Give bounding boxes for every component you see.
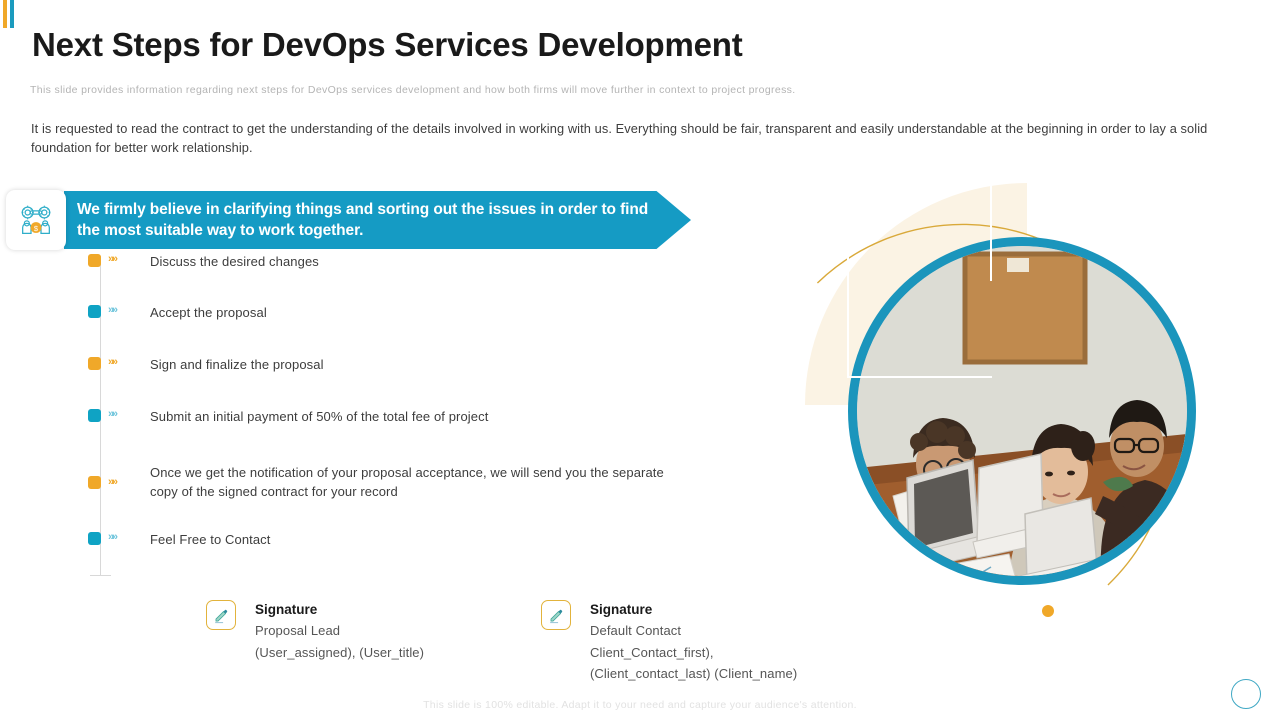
chevron-icon: »» [108, 530, 134, 544]
accent-bars [3, 0, 14, 28]
signature-block-proposal-lead: Signature Proposal Lead (User_assigned),… [206, 600, 424, 663]
page-title: Next Steps for DevOps Services Developme… [32, 26, 743, 64]
list-item[interactable]: »» Accept the proposal [88, 303, 728, 322]
signature-line: Proposal Lead [255, 620, 424, 642]
signature-line: (Client_contact_last) (Client_name) [590, 663, 797, 685]
signature-text: Signature Default Contact Client_Contact… [590, 600, 797, 685]
white-corner-line-upper [945, 181, 992, 281]
list-item-label: Accept the proposal [150, 303, 267, 322]
pen-glyph [212, 606, 231, 625]
gold-dot [1042, 605, 1054, 617]
signature-block-default-contact: Signature Default Contact Client_Contact… [541, 600, 797, 685]
steps-rail-foot [90, 575, 111, 576]
signature-line: Default Contact [590, 620, 797, 642]
chevron-icon: »» [108, 252, 134, 266]
signature-title: Signature [255, 600, 424, 620]
chevron-icon: »» [108, 407, 134, 421]
list-item-label: Feel Free to Contact [150, 530, 271, 549]
banner-text: We firmly believe in clarifying things a… [64, 199, 664, 241]
list-item-label: Sign and finalize the proposal [150, 355, 324, 374]
list-item-label: Submit an initial payment of 50% of the … [150, 407, 488, 426]
step-chip [88, 532, 101, 545]
list-item[interactable]: »» Sign and finalize the proposal [88, 355, 728, 374]
team-photo [857, 246, 1187, 576]
team-photo-graphic [805, 183, 1225, 633]
accent-bar-teal [10, 0, 14, 28]
chevron-icon: »» [108, 475, 134, 489]
step-chip [88, 357, 101, 370]
chevron-icon: »» [108, 355, 134, 369]
footer-note: This slide is 100% editable. Adapt it to… [0, 699, 1280, 711]
pen-glyph [547, 606, 566, 625]
step-chip [88, 305, 101, 318]
signature-title: Signature [590, 600, 797, 620]
signature-line: Client_Contact_first), [590, 642, 797, 664]
page-subtitle: This slide provides information regardin… [30, 84, 1250, 96]
list-item[interactable]: »» Discuss the desired changes [88, 252, 728, 271]
accent-bar-orange [3, 0, 7, 28]
step-chip [88, 409, 101, 422]
signature-line: (User_assigned), (User_title) [255, 642, 424, 664]
gears-and-people-icon: $ [16, 200, 56, 240]
banner-icon-container: $ [6, 190, 66, 250]
step-chip [88, 254, 101, 267]
step-chip [88, 476, 101, 489]
signature-pen-icon [541, 600, 571, 630]
key-message-banner: We firmly believe in clarifying things a… [64, 191, 691, 249]
list-item[interactable]: »» Feel Free to Contact [88, 530, 728, 549]
chevron-icon: »» [108, 303, 134, 317]
list-item[interactable]: »» Once we get the notification of your … [88, 463, 688, 501]
photo-ring [848, 237, 1196, 585]
list-item-label: Once we get the notification of your pro… [150, 463, 688, 501]
signature-pen-icon [206, 600, 236, 630]
intro-paragraph: It is requested to read the contract to … [31, 119, 1247, 157]
list-item-label: Discuss the desired changes [150, 252, 319, 271]
list-item[interactable]: »» Submit an initial payment of 50% of t… [88, 407, 728, 426]
signature-text: Signature Proposal Lead (User_assigned),… [255, 600, 424, 663]
